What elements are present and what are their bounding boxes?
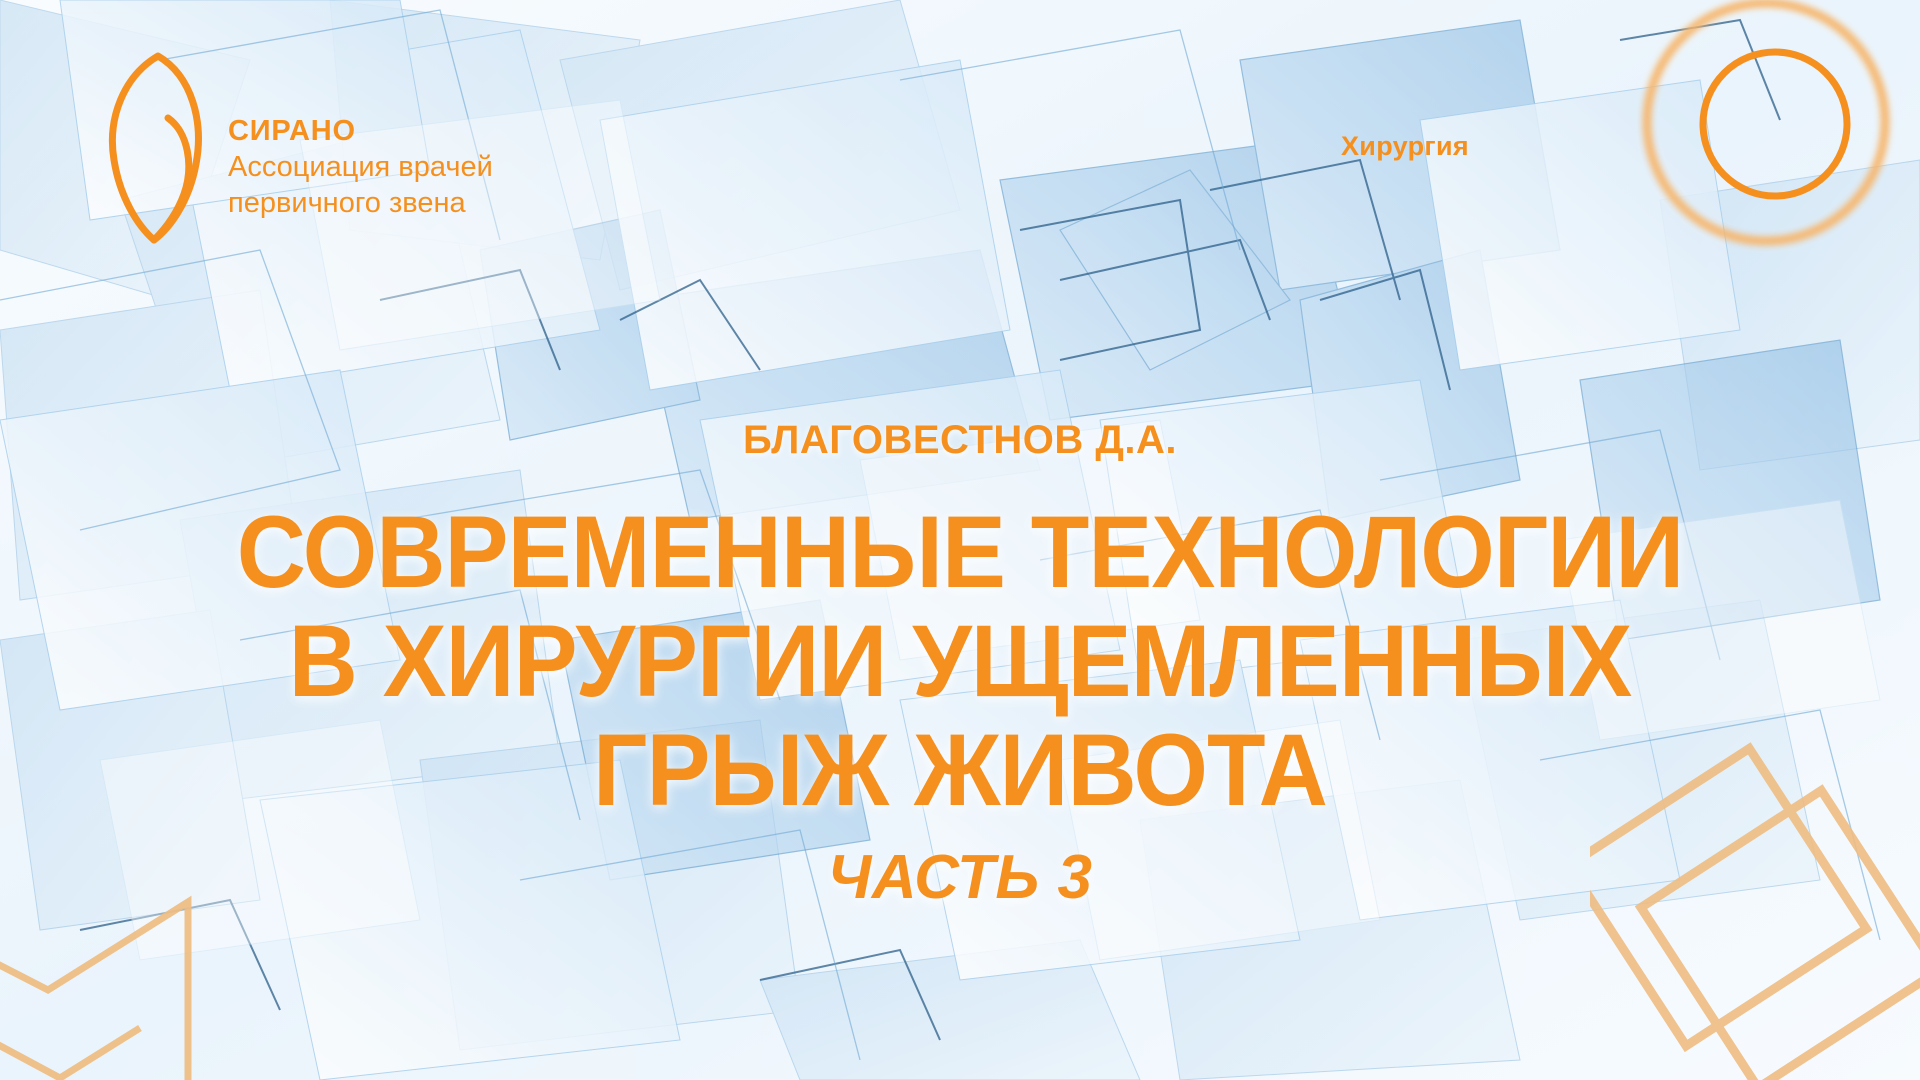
title-line-1: СОВРЕМЕННЫЕ ТЕХНОЛОГИИ xyxy=(58,502,1863,603)
brand-subtitle-line1: Ассоциация врачей xyxy=(228,150,493,186)
brand-subtitle-line2: первичного звена xyxy=(228,186,493,222)
title-line-3: ГРЫЖ ЖИВОТА xyxy=(58,720,1863,821)
concentric-circles-decoration xyxy=(1566,0,1920,314)
part-label: ЧАСТЬ 3 xyxy=(0,847,1920,909)
leaf-spiral-logo-icon xyxy=(104,48,208,244)
brand-name: СИРАНО xyxy=(228,114,493,150)
author-name: БЛАГОВЕСТНОВ Д.А. xyxy=(0,420,1920,460)
title-line-2: В ХИРУРГИИ УЩЕМЛЕННЫХ xyxy=(58,611,1863,712)
brand-logo: СИРАНО Ассоциация врачей первичного звен… xyxy=(104,48,493,244)
section-label: Хирургия xyxy=(1341,131,1469,162)
brand-logo-text: СИРАНО Ассоциация врачей первичного звен… xyxy=(228,70,493,222)
title-block: БЛАГОВЕСТНОВ Д.А. СОВРЕМЕННЫЕ ТЕХНОЛОГИИ… xyxy=(0,420,1920,909)
presentation-title-slide: СИРАНО Ассоциация врачей первичного звен… xyxy=(0,0,1920,1080)
